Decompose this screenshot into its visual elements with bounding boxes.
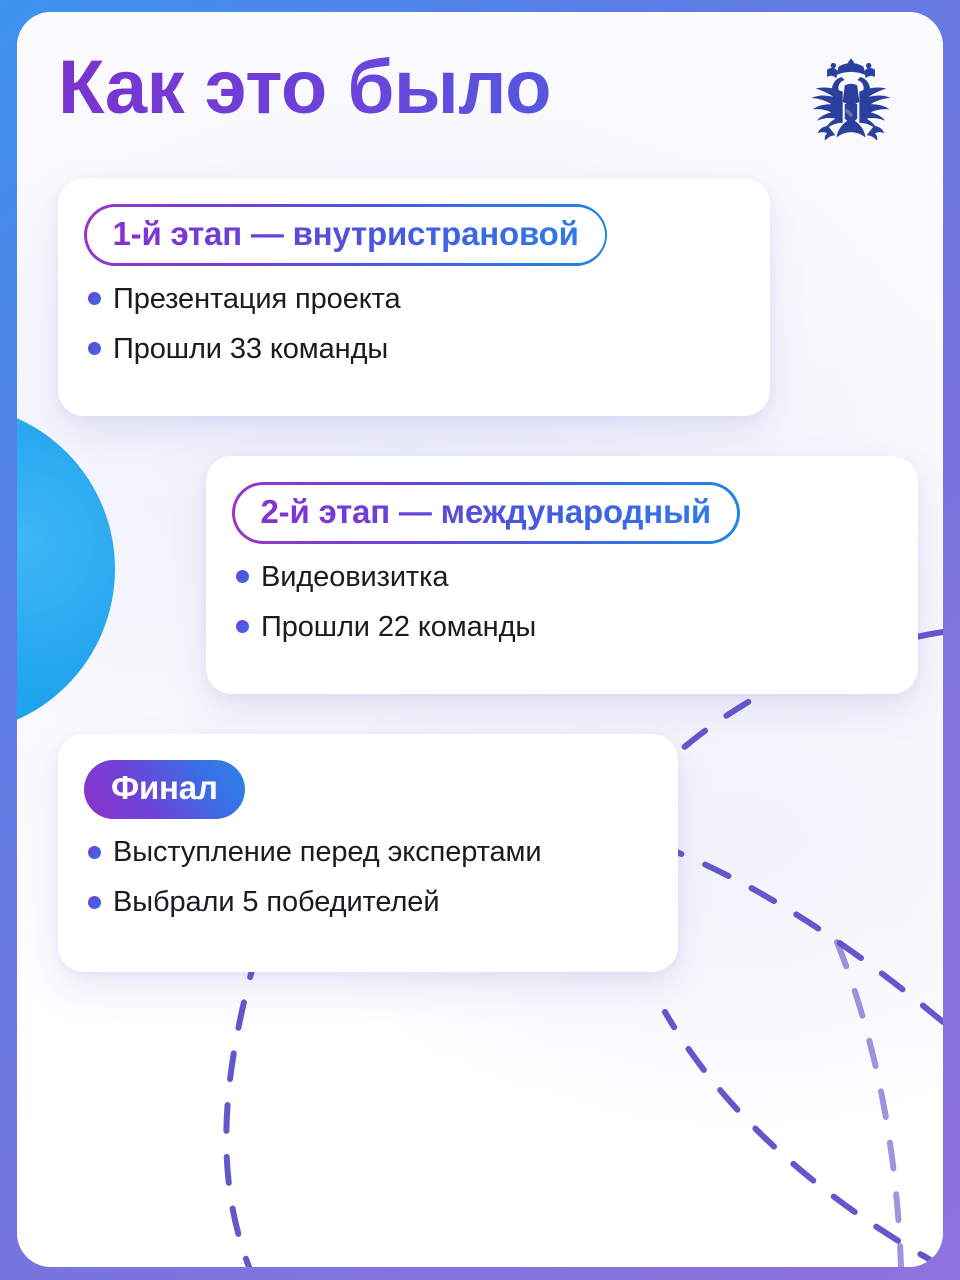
list-item: Прошли 22 команды — [236, 604, 918, 650]
bullet-label: Выступление перед экспертами — [113, 835, 541, 869]
stage-card-final: Финал Выступление перед экспертами Выбра… — [58, 734, 678, 972]
stage-2-pill: 2-й этап — международный — [232, 482, 740, 544]
stage-1-pill-inner: 1-й этап — внутристрановой — [87, 207, 605, 264]
stage-1-pill-label: 1-й этап — внутристрановой — [113, 216, 579, 253]
stage-1-bullet-list: Презентация проекта Прошли 33 команды — [58, 276, 770, 372]
stage-2-pill-inner: 2-й этап — международный — [235, 485, 738, 542]
bullet-dot-icon — [88, 896, 101, 909]
list-item: Выбрали 5 победителей — [88, 879, 678, 925]
stage-2-pill-label: 2-й этап — международный — [261, 494, 712, 531]
bullet-dot-icon — [236, 570, 249, 583]
slide-frame: Как это было — [0, 0, 960, 1280]
bullet-label: Видеовизитка — [261, 560, 448, 594]
final-pill-label: Финал — [111, 769, 218, 806]
header: Как это было — [58, 48, 903, 168]
page-title: Как это было — [58, 48, 903, 128]
bullet-label: Прошли 33 команды — [113, 332, 388, 366]
stage-2-bullet-list: Видеовизитка Прошли 22 команды — [206, 554, 918, 650]
list-item: Видеовизитка — [236, 554, 918, 600]
final-bullet-list: Выступление перед экспертами Выбрали 5 п… — [58, 829, 678, 925]
bullet-label: Прошли 22 команды — [261, 610, 536, 644]
slide-canvas: Как это было — [17, 12, 943, 1267]
bullet-dot-icon — [88, 292, 101, 305]
list-item: Презентация проекта — [88, 276, 770, 322]
bullet-label: Выбрали 5 победителей — [113, 885, 439, 919]
stage-card-1: 1-й этап — внутристрановой Презентация п… — [58, 178, 770, 416]
bullet-label: Презентация проекта — [113, 282, 401, 316]
final-pill: Финал — [84, 760, 245, 819]
russian-double-headed-eagle-emblem — [799, 50, 903, 154]
list-item: Выступление перед экспертами — [88, 829, 678, 875]
stage-1-pill: 1-й этап — внутристрановой — [84, 204, 607, 266]
list-item: Прошли 33 команды — [88, 326, 770, 372]
bullet-dot-icon — [88, 846, 101, 859]
bullet-dot-icon — [236, 620, 249, 633]
stage-card-2: 2-й этап — международный Видеовизитка Пр… — [206, 456, 918, 694]
bullet-dot-icon — [88, 342, 101, 355]
